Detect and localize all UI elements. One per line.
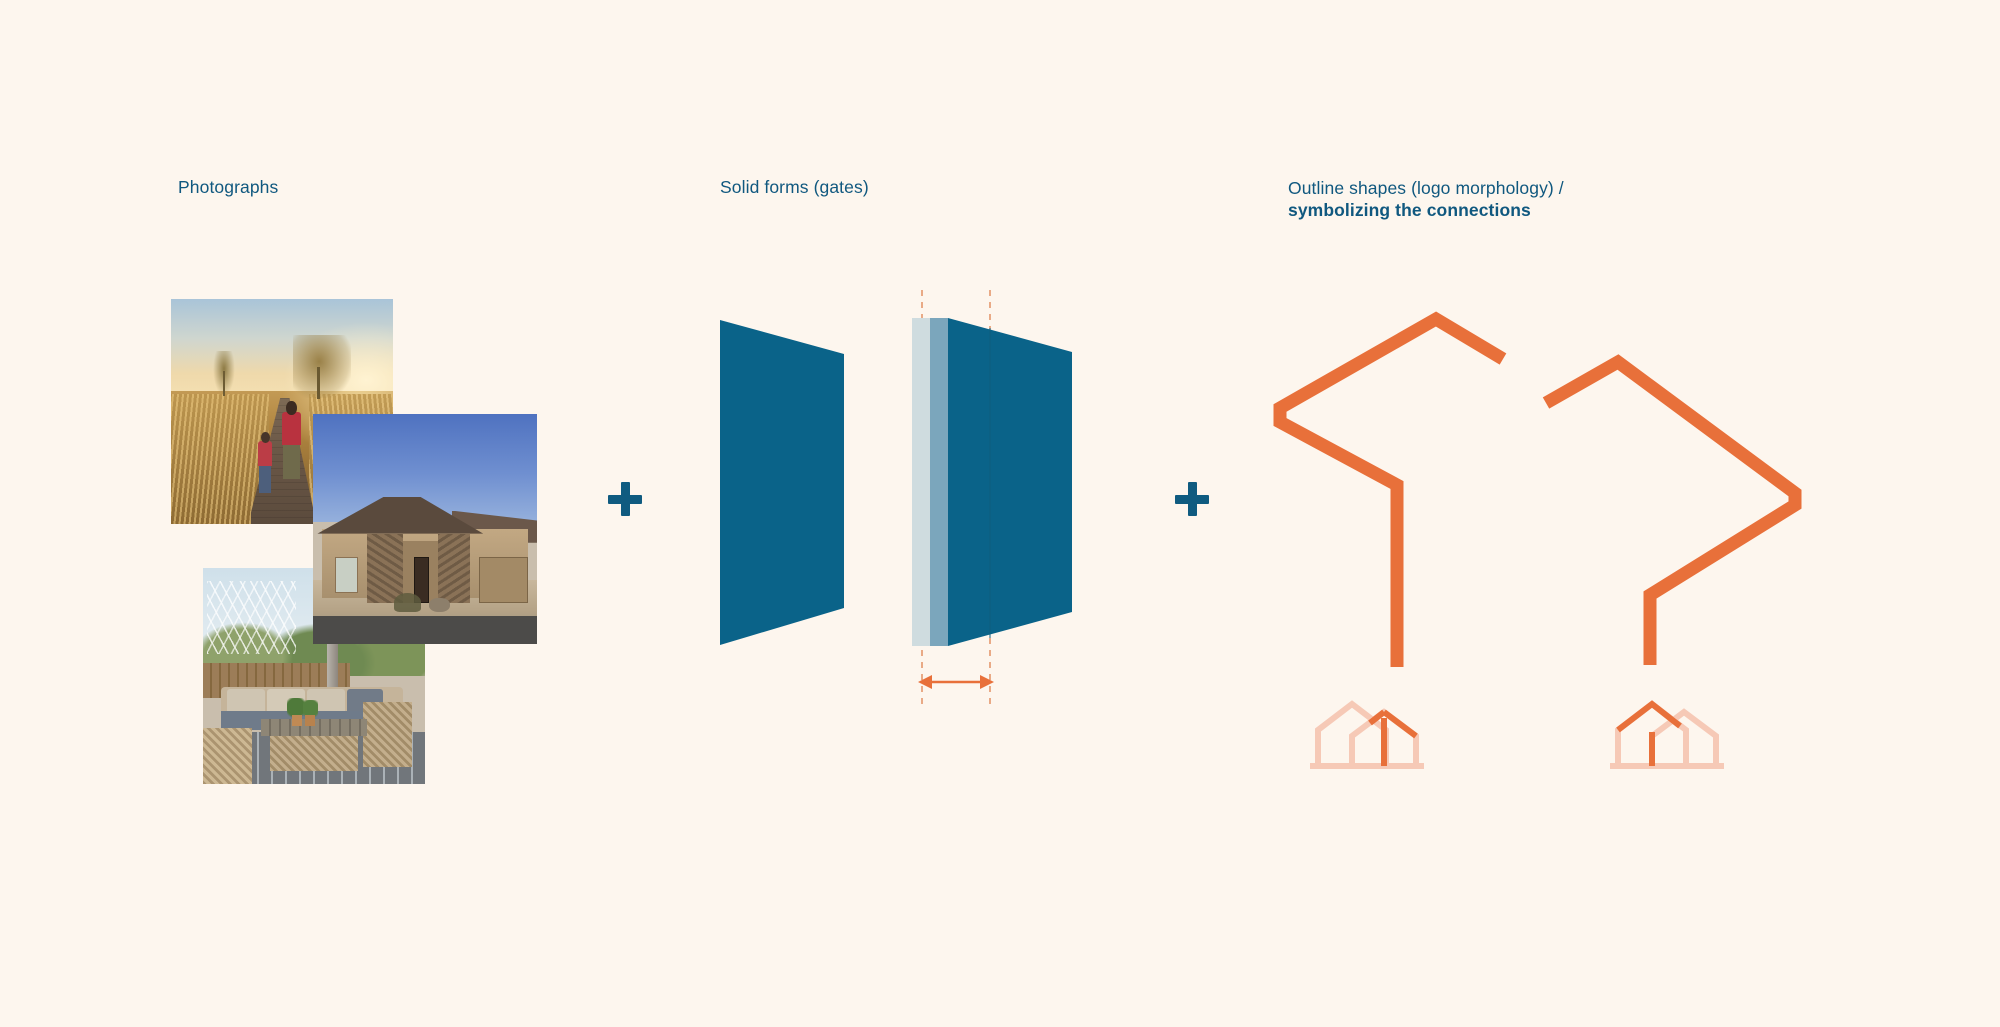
outline-shapes-group	[1270, 300, 1890, 820]
column-label-photographs-text: Photographs	[178, 177, 278, 199]
stone-column-left	[367, 534, 403, 603]
table-base	[270, 734, 359, 771]
column-label-outline-shapes: Outline shapes (logo morphology) / symbo…	[1288, 178, 1564, 222]
plus-separator-2	[1175, 482, 1209, 516]
child-head	[261, 432, 270, 443]
column-label-solid-forms-text: Solid forms (gates)	[720, 177, 869, 199]
plus-bar-vertical	[621, 482, 630, 516]
gate-trapezoid-left	[720, 320, 844, 645]
plant-pot-1	[292, 715, 302, 726]
column-label-photographs: Photographs	[178, 177, 278, 199]
adult-legs	[283, 441, 300, 479]
driveway	[313, 616, 537, 644]
outline-shape-left	[1280, 319, 1503, 667]
logo-two-houses-left-highlight	[1610, 704, 1724, 766]
plus-separator-1	[608, 482, 642, 516]
stone-column-right	[438, 534, 469, 603]
adult-torso	[282, 412, 301, 446]
home-exterior-photo	[313, 414, 537, 644]
sunset-sky	[171, 299, 393, 403]
column-label-outline-shapes-text: Outline shapes (logo morphology) /	[1288, 178, 1564, 200]
child-torso	[258, 441, 272, 466]
wicker-arm-right	[363, 702, 412, 767]
gate-edge-strip-pale	[912, 318, 930, 646]
edge-width-dimension	[918, 675, 994, 689]
diagram-canvas: Photographs Solid forms (gates) Outline …	[0, 0, 2000, 1027]
column-label-solid-forms: Solid forms (gates)	[720, 177, 869, 199]
wicker-chair-left	[203, 728, 252, 784]
logo-two-houses-right-highlight	[1310, 704, 1424, 766]
tree-small	[213, 351, 235, 396]
tree-large	[293, 335, 351, 398]
front-window	[335, 557, 357, 594]
solid-forms-group	[700, 290, 1180, 750]
garage-door	[479, 557, 528, 603]
column-label-outline-shapes-emphasis: symbolizing the connections	[1288, 200, 1564, 222]
plus-bar-vertical	[1188, 482, 1197, 516]
landscape-rock	[429, 598, 449, 612]
bare-branches	[207, 581, 296, 654]
landscape-shrub	[394, 593, 421, 611]
gate-trapezoid-right	[948, 318, 1072, 646]
child-legs	[259, 463, 271, 492]
adult-head	[286, 401, 296, 415]
gate-edge-strip-mid	[930, 318, 948, 646]
plant-pot-2	[305, 715, 315, 726]
outline-shape-right	[1546, 362, 1795, 665]
